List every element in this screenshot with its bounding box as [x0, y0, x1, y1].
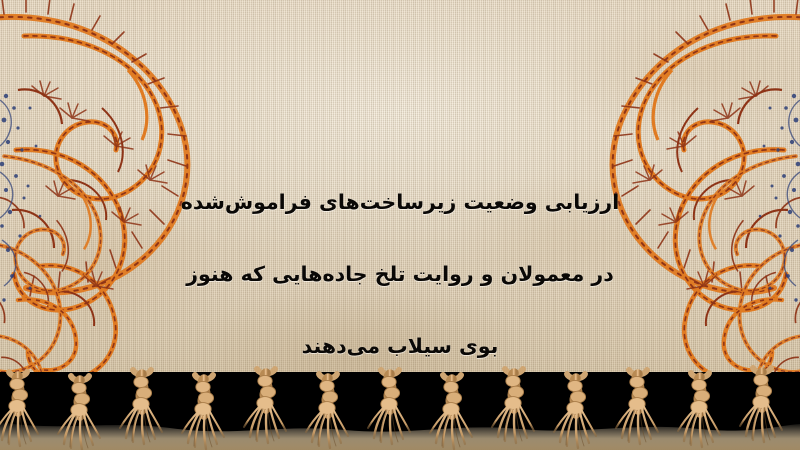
tassel [492, 369, 534, 443]
tassel [182, 375, 224, 449]
tassel-row [0, 368, 782, 450]
tassel [616, 370, 658, 444]
embroidery-svg [0, 0, 800, 372]
tassel-fringe [0, 330, 800, 450]
tassel [368, 370, 410, 444]
tassel [0, 372, 38, 446]
right-embroidery-motif [613, 0, 800, 372]
tassel [120, 370, 162, 444]
left-embroidery-motif [0, 0, 187, 372]
tassel [58, 376, 100, 450]
tassel [678, 373, 720, 447]
tassel [306, 374, 348, 448]
embroidery-layer [0, 0, 800, 372]
tassel [244, 369, 286, 443]
tassel [554, 374, 596, 448]
tassel [430, 375, 472, 449]
textile-banner-scene: ارزیابی وضعیت زیرساخت‌های فراموش‌شده در … [0, 0, 800, 450]
tassel [740, 368, 782, 442]
